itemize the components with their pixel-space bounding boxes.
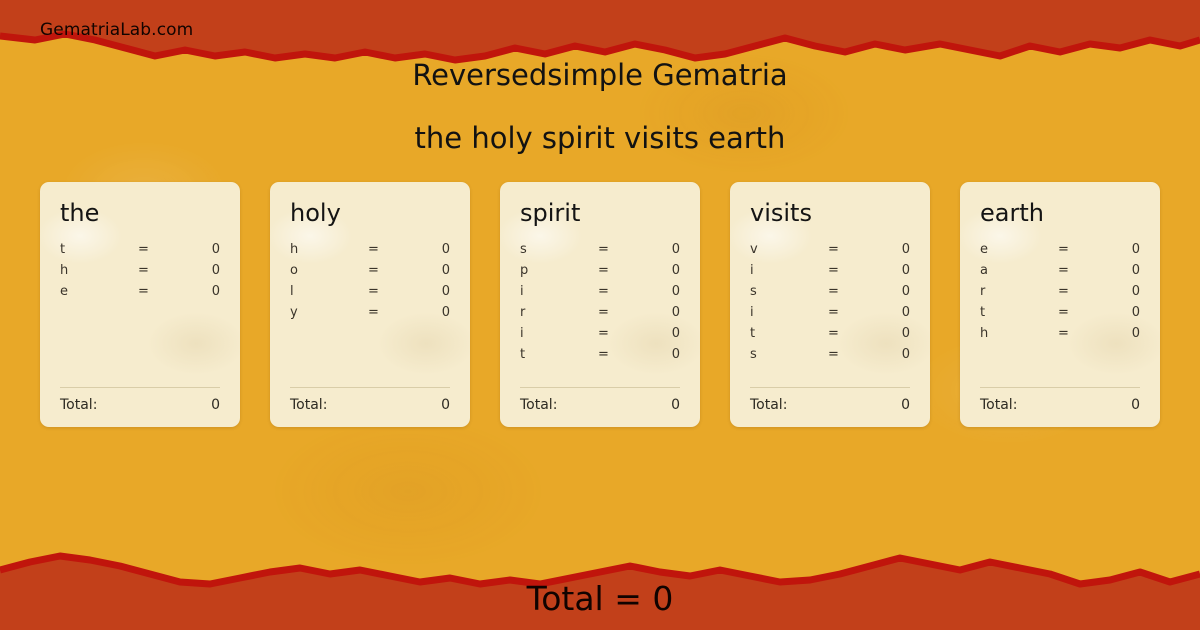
equals-sign: =	[828, 305, 880, 320]
card-word-title: visits	[750, 200, 910, 226]
equals-sign: =	[1058, 326, 1110, 341]
equals-sign: =	[368, 305, 420, 320]
card-total-value: 0	[671, 397, 680, 413]
card-total-label: Total:	[520, 397, 557, 413]
equals-sign: =	[1058, 284, 1110, 299]
letter-label: r	[520, 305, 598, 320]
letter-row: r=0	[980, 284, 1140, 305]
letter-row: h=0	[980, 326, 1140, 347]
letter-row: i=0	[750, 305, 910, 326]
card-word-title: earth	[980, 200, 1140, 226]
letter-value: 0	[880, 263, 910, 278]
letter-row: h=0	[60, 263, 220, 284]
letter-value: 0	[880, 305, 910, 320]
letter-row-group: s=0p=0i=0r=0i=0t=0	[520, 242, 680, 381]
letter-label: h	[60, 263, 138, 278]
card-divider	[520, 387, 680, 388]
letter-value: 0	[1110, 305, 1140, 320]
letter-value: 0	[1110, 284, 1140, 299]
card-total-row: Total:0	[520, 397, 680, 413]
letter-row: h=0	[290, 242, 450, 263]
letter-value: 0	[650, 326, 680, 341]
letter-label: i	[520, 326, 598, 341]
letter-row: v=0	[750, 242, 910, 263]
equals-sign: =	[1058, 263, 1110, 278]
card-divider	[980, 387, 1140, 388]
equals-sign: =	[598, 347, 650, 362]
card-divider	[60, 387, 220, 388]
card-word-title: holy	[290, 200, 450, 226]
letter-label: p	[520, 263, 598, 278]
equals-sign: =	[598, 242, 650, 257]
letter-label: s	[750, 347, 828, 362]
letter-row: s=0	[750, 284, 910, 305]
letter-row: s=0	[750, 347, 910, 368]
letter-value: 0	[650, 347, 680, 362]
card-divider	[750, 387, 910, 388]
letter-label: e	[60, 284, 138, 299]
phrase-title: the holy spirit visits earth	[0, 121, 1200, 155]
equals-sign: =	[368, 242, 420, 257]
word-card: spirits=0p=0i=0r=0i=0t=0Total:0	[500, 182, 700, 427]
equals-sign: =	[368, 284, 420, 299]
letter-label: i	[520, 284, 598, 299]
letter-value: 0	[650, 242, 680, 257]
letter-value: 0	[420, 284, 450, 299]
card-total-value: 0	[1131, 397, 1140, 413]
letter-row-group: h=0o=0l=0y=0	[290, 242, 450, 381]
card-word-title: spirit	[520, 200, 680, 226]
card-total-label: Total:	[750, 397, 787, 413]
equals-sign: =	[598, 284, 650, 299]
equals-sign: =	[828, 284, 880, 299]
letter-label: t	[750, 326, 828, 341]
letter-value: 0	[880, 347, 910, 362]
card-total-row: Total:0	[60, 397, 220, 413]
letter-row: p=0	[520, 263, 680, 284]
equals-sign: =	[138, 284, 190, 299]
letter-label: e	[980, 242, 1058, 257]
equals-sign: =	[828, 326, 880, 341]
letter-value: 0	[420, 263, 450, 278]
letter-row: a=0	[980, 263, 1140, 284]
letter-label: s	[750, 284, 828, 299]
letter-value: 0	[880, 326, 910, 341]
letter-label: t	[520, 347, 598, 362]
letter-value: 0	[190, 242, 220, 257]
letter-row: t=0	[60, 242, 220, 263]
cipher-title: Reversedsimple Gematria	[0, 58, 1200, 92]
equals-sign: =	[368, 263, 420, 278]
word-card: thet=0h=0e=0Total:0	[40, 182, 240, 427]
letter-row: t=0	[520, 347, 680, 368]
card-divider	[290, 387, 450, 388]
equals-sign: =	[1058, 305, 1110, 320]
card-total-label: Total:	[290, 397, 327, 413]
letter-row: e=0	[60, 284, 220, 305]
equals-sign: =	[1058, 242, 1110, 257]
word-card-list: thet=0h=0e=0Total:0holyh=0o=0l=0y=0Total…	[40, 182, 1160, 427]
letter-label: v	[750, 242, 828, 257]
card-total-value: 0	[211, 397, 220, 413]
letter-row: i=0	[750, 263, 910, 284]
letter-value: 0	[650, 284, 680, 299]
letter-value: 0	[1110, 263, 1140, 278]
word-card: earthe=0a=0r=0t=0h=0Total:0	[960, 182, 1160, 427]
equals-sign: =	[828, 263, 880, 278]
equals-sign: =	[828, 347, 880, 362]
letter-row: i=0	[520, 326, 680, 347]
card-total-label: Total:	[980, 397, 1017, 413]
letter-value: 0	[420, 242, 450, 257]
letter-label: i	[750, 263, 828, 278]
equals-sign: =	[828, 242, 880, 257]
letter-row: t=0	[980, 305, 1140, 326]
letter-label: l	[290, 284, 368, 299]
letter-value: 0	[190, 263, 220, 278]
letter-row: t=0	[750, 326, 910, 347]
letter-label: y	[290, 305, 368, 320]
card-total-row: Total:0	[290, 397, 450, 413]
letter-value: 0	[1110, 326, 1140, 341]
card-total-row: Total:0	[980, 397, 1140, 413]
card-total-value: 0	[441, 397, 450, 413]
card-total-label: Total:	[60, 397, 97, 413]
equals-sign: =	[598, 263, 650, 278]
equals-sign: =	[138, 263, 190, 278]
letter-row: y=0	[290, 305, 450, 326]
letter-label: i	[750, 305, 828, 320]
letter-row: i=0	[520, 284, 680, 305]
letter-value: 0	[650, 305, 680, 320]
site-watermark: GematriaLab.com	[40, 20, 193, 40]
gematria-poster: GematriaLab.com Reversedsimple Gematria …	[0, 0, 1200, 630]
letter-value: 0	[650, 263, 680, 278]
card-word-title: the	[60, 200, 220, 226]
letter-label: r	[980, 284, 1058, 299]
equals-sign: =	[138, 242, 190, 257]
letter-row: e=0	[980, 242, 1140, 263]
letter-row-group: t=0h=0e=0	[60, 242, 220, 381]
letter-label: o	[290, 263, 368, 278]
letter-value: 0	[880, 242, 910, 257]
letter-label: h	[980, 326, 1058, 341]
letter-label: h	[290, 242, 368, 257]
letter-row-group: e=0a=0r=0t=0h=0	[980, 242, 1140, 381]
card-total-value: 0	[901, 397, 910, 413]
letter-value: 0	[190, 284, 220, 299]
letter-label: a	[980, 263, 1058, 278]
letter-value: 0	[420, 305, 450, 320]
letter-label: t	[60, 242, 138, 257]
letter-value: 0	[880, 284, 910, 299]
word-card: visitsv=0i=0s=0i=0t=0s=0Total:0	[730, 182, 930, 427]
letter-row: l=0	[290, 284, 450, 305]
equals-sign: =	[598, 305, 650, 320]
word-card: holyh=0o=0l=0y=0Total:0	[270, 182, 470, 427]
letter-row: s=0	[520, 242, 680, 263]
letter-value: 0	[1110, 242, 1140, 257]
grand-total: Total = 0	[0, 579, 1200, 618]
letter-label: s	[520, 242, 598, 257]
letter-label: t	[980, 305, 1058, 320]
letter-row: r=0	[520, 305, 680, 326]
card-total-row: Total:0	[750, 397, 910, 413]
letter-row-group: v=0i=0s=0i=0t=0s=0	[750, 242, 910, 381]
equals-sign: =	[598, 326, 650, 341]
letter-row: o=0	[290, 263, 450, 284]
